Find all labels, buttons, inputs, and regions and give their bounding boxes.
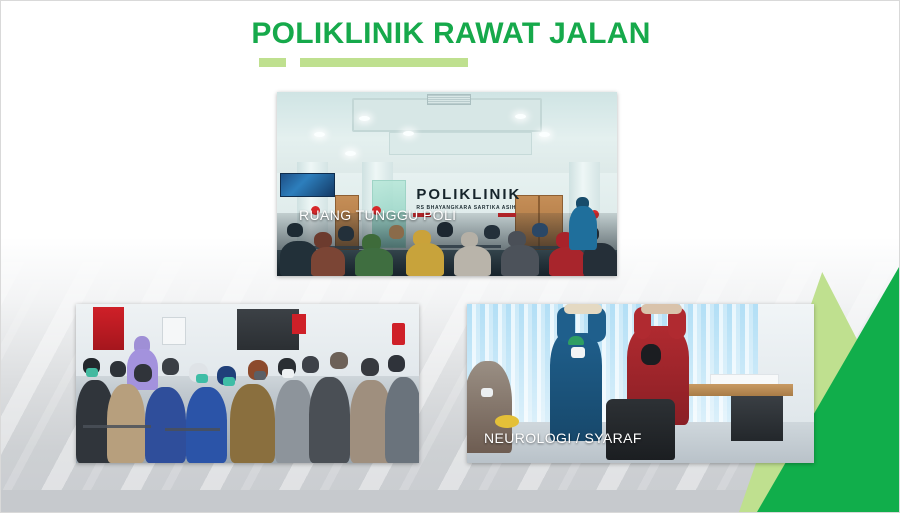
face-mask (254, 371, 266, 380)
photo-crowd-left (76, 304, 419, 463)
person-head (532, 223, 548, 237)
person-body (454, 246, 491, 276)
person-head (361, 358, 379, 376)
face-mask (282, 369, 294, 378)
person-body (275, 380, 313, 463)
face-mask (86, 368, 98, 377)
red-roll-banner (93, 307, 124, 350)
wall-tv-screen (280, 173, 334, 197)
person-body (230, 384, 275, 464)
person-body (501, 245, 538, 276)
accent-bar-short (259, 58, 286, 67)
clasped-hands (564, 304, 602, 314)
wall-notice (162, 317, 186, 346)
face-mask (196, 374, 208, 383)
fire-extinguisher (392, 323, 406, 345)
person-head (330, 352, 348, 369)
green-surgical-cap (568, 336, 584, 345)
photo-waiting-room: POLIKLINIK RS BHAYANGKARA SARTIKA ASIH (277, 92, 617, 276)
person-body (186, 387, 227, 463)
chair-rail (165, 428, 220, 431)
page-title: POLIKLINIK RAWAT JALAN (1, 17, 900, 51)
person-head (388, 355, 405, 372)
person-head (338, 226, 354, 241)
person-body (385, 377, 419, 463)
person-head (110, 361, 126, 377)
face-mask (481, 388, 493, 397)
person-body (311, 247, 345, 276)
person-head (389, 225, 404, 239)
ceiling-recess-inner (389, 132, 532, 154)
photo-waiting-room-scene: POLIKLINIK RS BHAYANGKARA SARTIKA ASIH (277, 92, 617, 276)
person-body (107, 384, 145, 464)
photo-crowd-left-scene (76, 304, 419, 463)
photo-caption-neurologi: NEUROLOGI / SYARAF (484, 430, 642, 446)
person-head-back (641, 344, 661, 365)
wall-sign-poliklinik: POLIKLINIK (416, 186, 521, 203)
wall-sign-red (292, 314, 306, 335)
ceiling-light (345, 151, 356, 156)
wooden-desk (689, 384, 793, 397)
person-head (302, 356, 319, 373)
clasped-hands (641, 304, 683, 314)
ceiling-vent (427, 94, 471, 105)
photo-neurologi: NEUROLOGI / SYARAF (467, 304, 814, 463)
person-body (406, 243, 443, 276)
standing-person-body (569, 206, 596, 250)
person-body (549, 247, 586, 276)
person-head (437, 222, 453, 237)
person-body (355, 248, 392, 276)
chair-rail (83, 425, 152, 428)
ceiling-light (403, 131, 414, 136)
person-head (162, 358, 179, 375)
person-body (309, 377, 350, 463)
slide-canvas: POLIKLINIK RAWAT JALAN POLI (0, 0, 900, 513)
person-head (287, 223, 303, 237)
title-accent-bars (259, 58, 468, 67)
person-head (461, 232, 478, 247)
person-head (134, 364, 152, 382)
accent-bar-long (300, 58, 468, 67)
flower-pot (495, 415, 519, 428)
person-head (484, 225, 500, 239)
dark-doorway (237, 309, 299, 350)
photo-caption-waiting-room: RUANG TUNGGU POLI (299, 207, 456, 223)
black-cabinet (731, 396, 783, 441)
face-mask (571, 347, 585, 358)
person-head (314, 232, 332, 248)
ceiling-light (359, 116, 370, 121)
face-mask (223, 377, 235, 386)
